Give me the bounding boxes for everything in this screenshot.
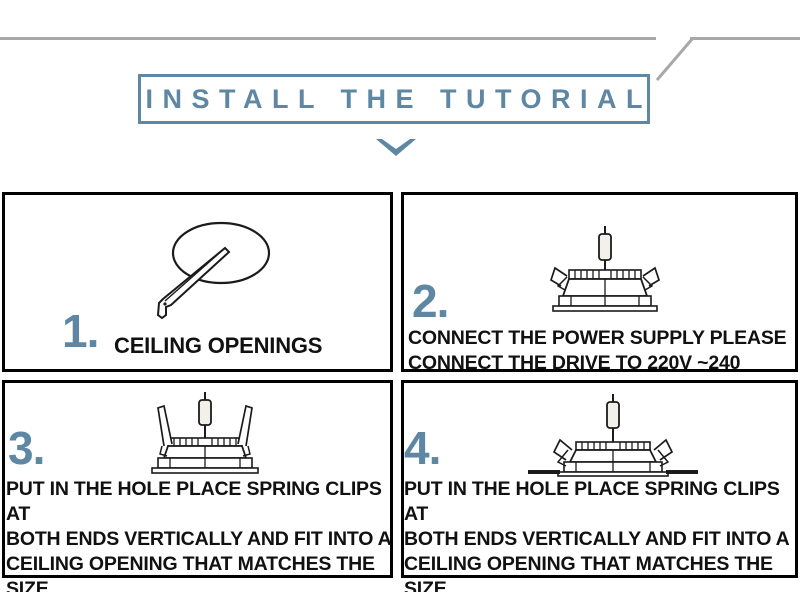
ceiling-hole-cutter-diagram [125,215,280,330]
install-tutorial-page: INSTALL THE TUTORIAL 1. CEILING OPENINGS [0,0,800,592]
step-3-number: 3. [8,425,44,471]
step-4-caption-line-4: SIZE [404,577,796,592]
chevron-down-icon [374,136,418,160]
step-2-number: 2. [412,278,448,324]
page-title-box: INSTALL THE TUTORIAL [138,74,650,124]
top-rule-left [0,37,656,40]
step-4-caption-line-3: CEILING OPENING THAT MATCHES THE [404,552,796,577]
step-1-caption: CEILING OPENINGS [114,333,322,359]
top-rule-right [690,37,800,40]
step-1-number: 1. [62,308,98,354]
page-title: INSTALL THE TUTORIAL [141,77,647,121]
step-4-caption-line-1: PUT IN THE HOLE PLACE SPRING CLIPS AT [404,477,796,527]
step-2-caption-line-1: CONNECT THE POWER SUPPLY PLEASE [408,326,800,351]
step-3-caption-line-4: SIZE [6,577,394,592]
step-4-caption-line-2: BOTH ENDS VERTICALLY AND FIT INTO A [404,527,796,552]
step-3-caption-line-3: CEILING OPENING THAT MATCHES THE [6,552,394,577]
downlight-fixture-with-driver-diagram [545,224,665,316]
top-rule-diagonal-icon [655,30,695,84]
downlight-with-spring-clips-raised-diagram [142,390,268,478]
step-3-caption-line-1: PUT IN THE HOLE PLACE SPRING CLIPS AT [6,477,394,527]
step-3-caption-line-2: BOTH ENDS VERTICALLY AND FIT INTO A [6,527,394,552]
step-4-number: 4. [404,425,440,471]
step-3-caption: PUT IN THE HOLE PLACE SPRING CLIPS AT BO… [6,477,394,592]
step-4-caption: PUT IN THE HOLE PLACE SPRING CLIPS AT BO… [404,477,796,592]
downlight-installed-in-ceiling-diagram [528,390,698,478]
